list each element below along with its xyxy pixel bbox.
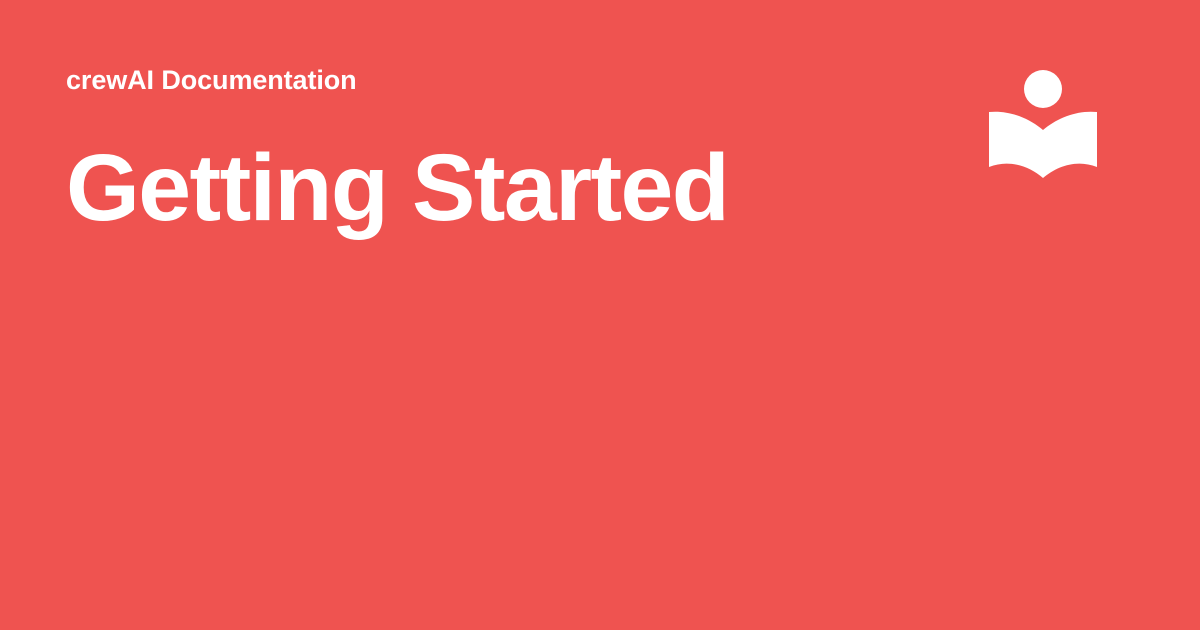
book-left-page [989, 112, 1043, 178]
page-title: Getting Started [66, 140, 926, 236]
open-book-reader-glyph [985, 64, 1103, 184]
reader-head-circle [1024, 70, 1062, 108]
site-name-label: crewAI Documentation [66, 60, 926, 100]
open-book-reader-icon [985, 64, 1103, 184]
card-text-block: crewAI Documentation Getting Started [66, 60, 926, 236]
book-right-page [1043, 112, 1097, 178]
og-card: crewAI Documentation Getting Started [0, 0, 1200, 630]
